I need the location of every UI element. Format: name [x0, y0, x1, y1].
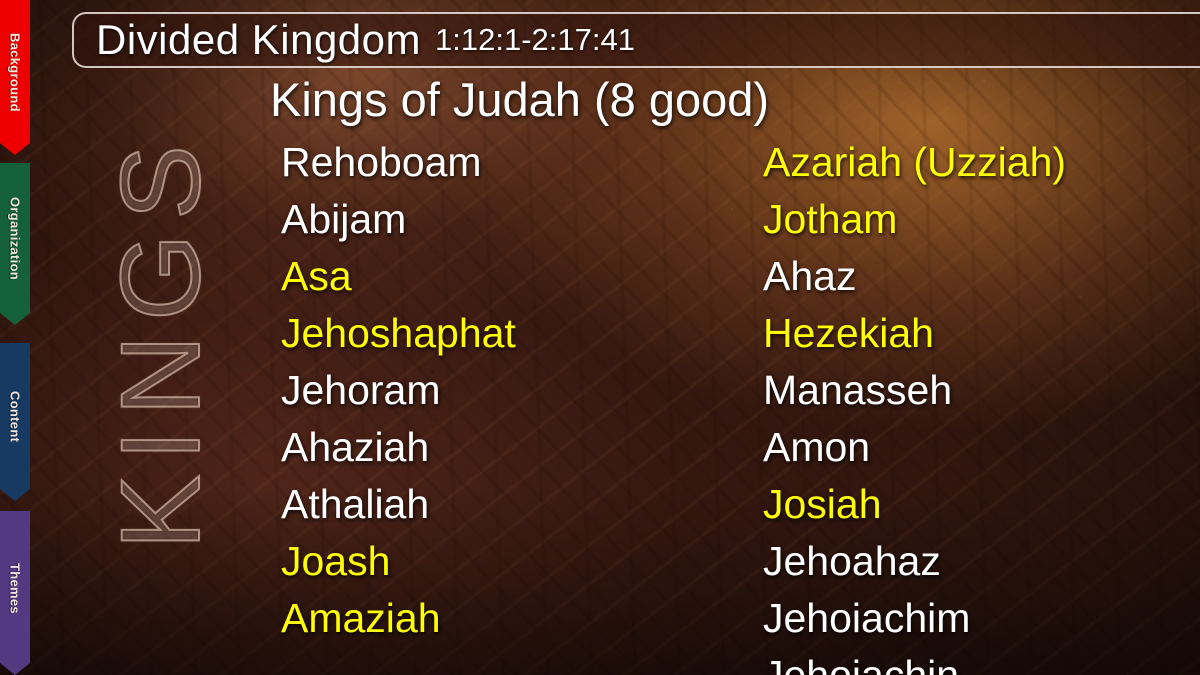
kings-watermark-text: KINGS — [96, 131, 225, 550]
king-name-item: Josiah — [763, 476, 1066, 533]
section-tab-strip[interactable]: BackgroundOrganizationContentThemes — [0, 0, 34, 675]
king-name-item: Ahaziah — [281, 419, 516, 476]
king-name-item: Amaziah — [281, 590, 516, 647]
sidebar-tab-organization[interactable]: Organization — [0, 163, 30, 325]
scripture-reference: 1:12:1-2:17:41 — [435, 22, 635, 58]
king-name-item: Jehoiachin — [763, 647, 1066, 675]
king-name-item: Asa — [281, 248, 516, 305]
king-name-item: Ahaz — [763, 248, 1066, 305]
king-name-item: Abijam — [281, 191, 516, 248]
sidebar-tab-label: Content — [8, 391, 23, 442]
king-name-item: Azariah (Uzziah) — [763, 134, 1066, 191]
king-name-item: Jehoahaz — [763, 533, 1066, 590]
kings-column-right: Azariah (Uzziah)JothamAhazHezekiahManass… — [763, 134, 1066, 675]
slide-title-bar: Divided Kingdom 1:12:1-2:17:41 — [72, 12, 1200, 68]
king-name-item: Jehoiachim — [763, 590, 1066, 647]
page-title: Divided Kingdom — [96, 16, 421, 64]
king-name-item: Jehoram — [281, 362, 516, 419]
kings-watermark: KINGS — [60, 60, 260, 620]
sidebar-tab-content[interactable]: Content — [0, 343, 30, 501]
king-name-item: Rehoboam — [281, 134, 516, 191]
king-name-item: Amon — [763, 419, 1066, 476]
kings-column-left: RehoboamAbijamAsaJehoshaphatJehoramAhazi… — [281, 134, 516, 647]
king-name-item: Joash — [281, 533, 516, 590]
slide-subtitle: Kings of Judah (8 good) — [270, 72, 769, 127]
presentation-slide: KINGS BackgroundOrganizationContentTheme… — [0, 0, 1200, 675]
sidebar-tab-label: Organization — [8, 197, 23, 280]
king-name-item: Jehoshaphat — [281, 305, 516, 362]
sidebar-tab-label: Themes — [8, 563, 23, 614]
king-name-item: Jotham — [763, 191, 1066, 248]
king-name-item: Manasseh — [763, 362, 1066, 419]
sidebar-tab-label: Background — [8, 33, 23, 112]
king-name-item: Hezekiah — [763, 305, 1066, 362]
sidebar-tab-themes[interactable]: Themes — [0, 511, 30, 675]
king-name-item: Athaliah — [281, 476, 516, 533]
sidebar-tab-background[interactable]: Background — [0, 0, 30, 155]
